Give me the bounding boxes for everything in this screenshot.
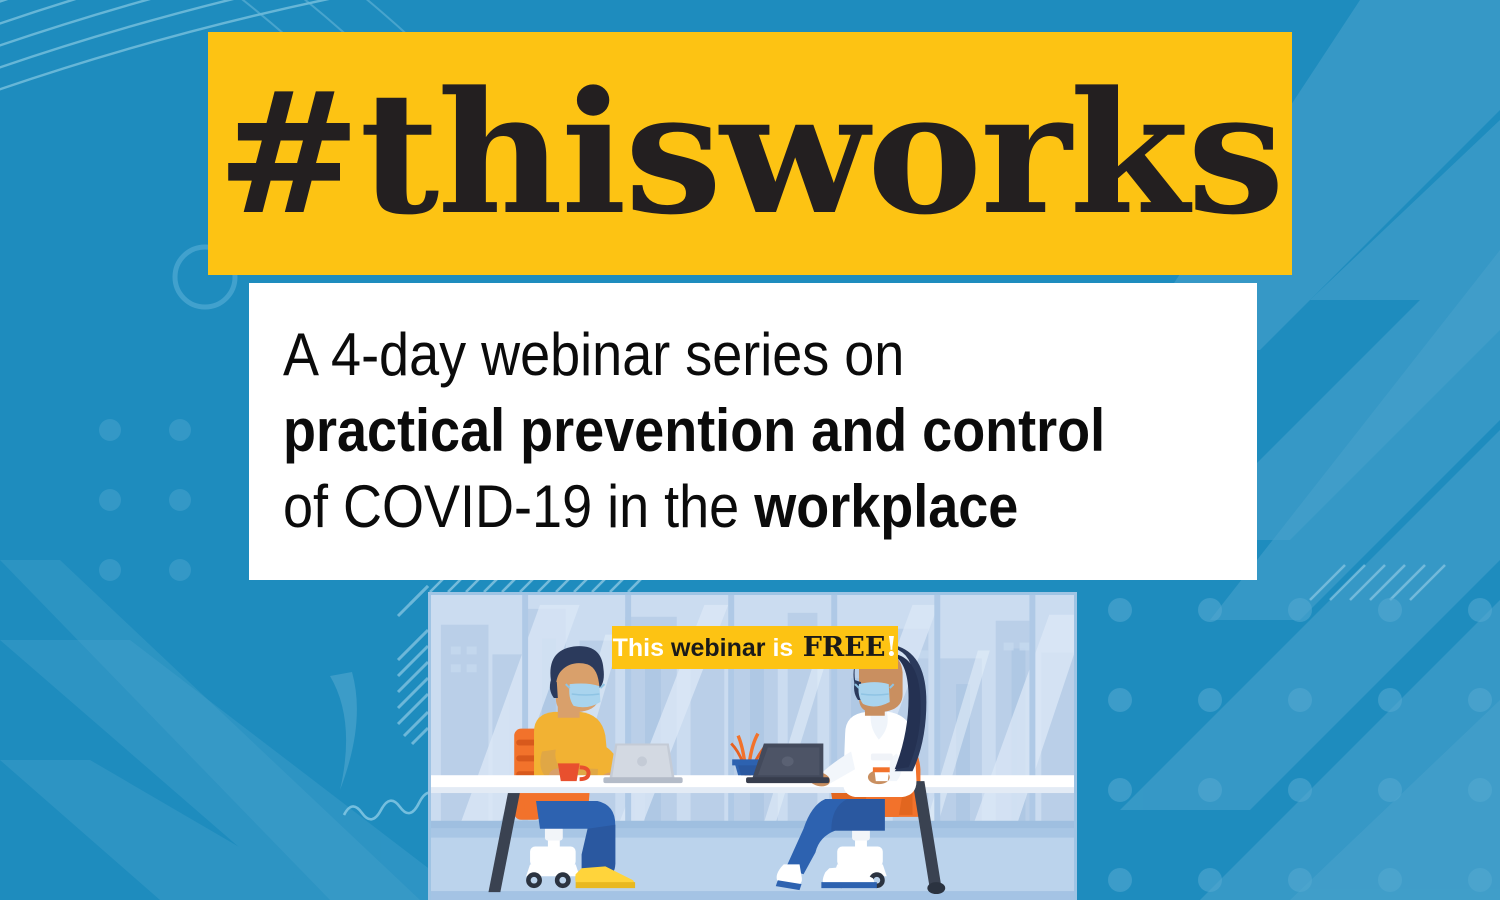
subtitle-line-3-regular: of COVID-19 in the [283,473,754,540]
poster-canvas: #thisworks A 4-day webinar series on pra… [0,0,1500,900]
free-webinar-badge-text: This webinar is FREE! [613,635,898,661]
ribbon-word-is: is [772,634,793,662]
subtitle-line-3-bold: workplace [754,473,1018,540]
subtitle-panel: A 4-day webinar series on practical prev… [249,283,1257,580]
free-webinar-badge: This webinar is FREE! [612,626,898,669]
subtitle-line-2: practical prevention and control [283,393,1133,469]
ribbon-space-3 [793,632,802,663]
subtitle-line-1: A 4-day webinar series on [283,317,1133,393]
ribbon-word-webinar: webinar [671,634,765,662]
ribbon-exclamation: ! [885,632,897,663]
ribbon-word-this: This [613,634,664,662]
ribbon-word-free: FREE [803,632,886,663]
subtitle-line-3: of COVID-19 in the workplace [283,469,1133,545]
ribbon-space-1 [664,634,671,662]
page-title: #thisworks [217,73,1283,234]
headline-band: #thisworks [208,32,1292,275]
